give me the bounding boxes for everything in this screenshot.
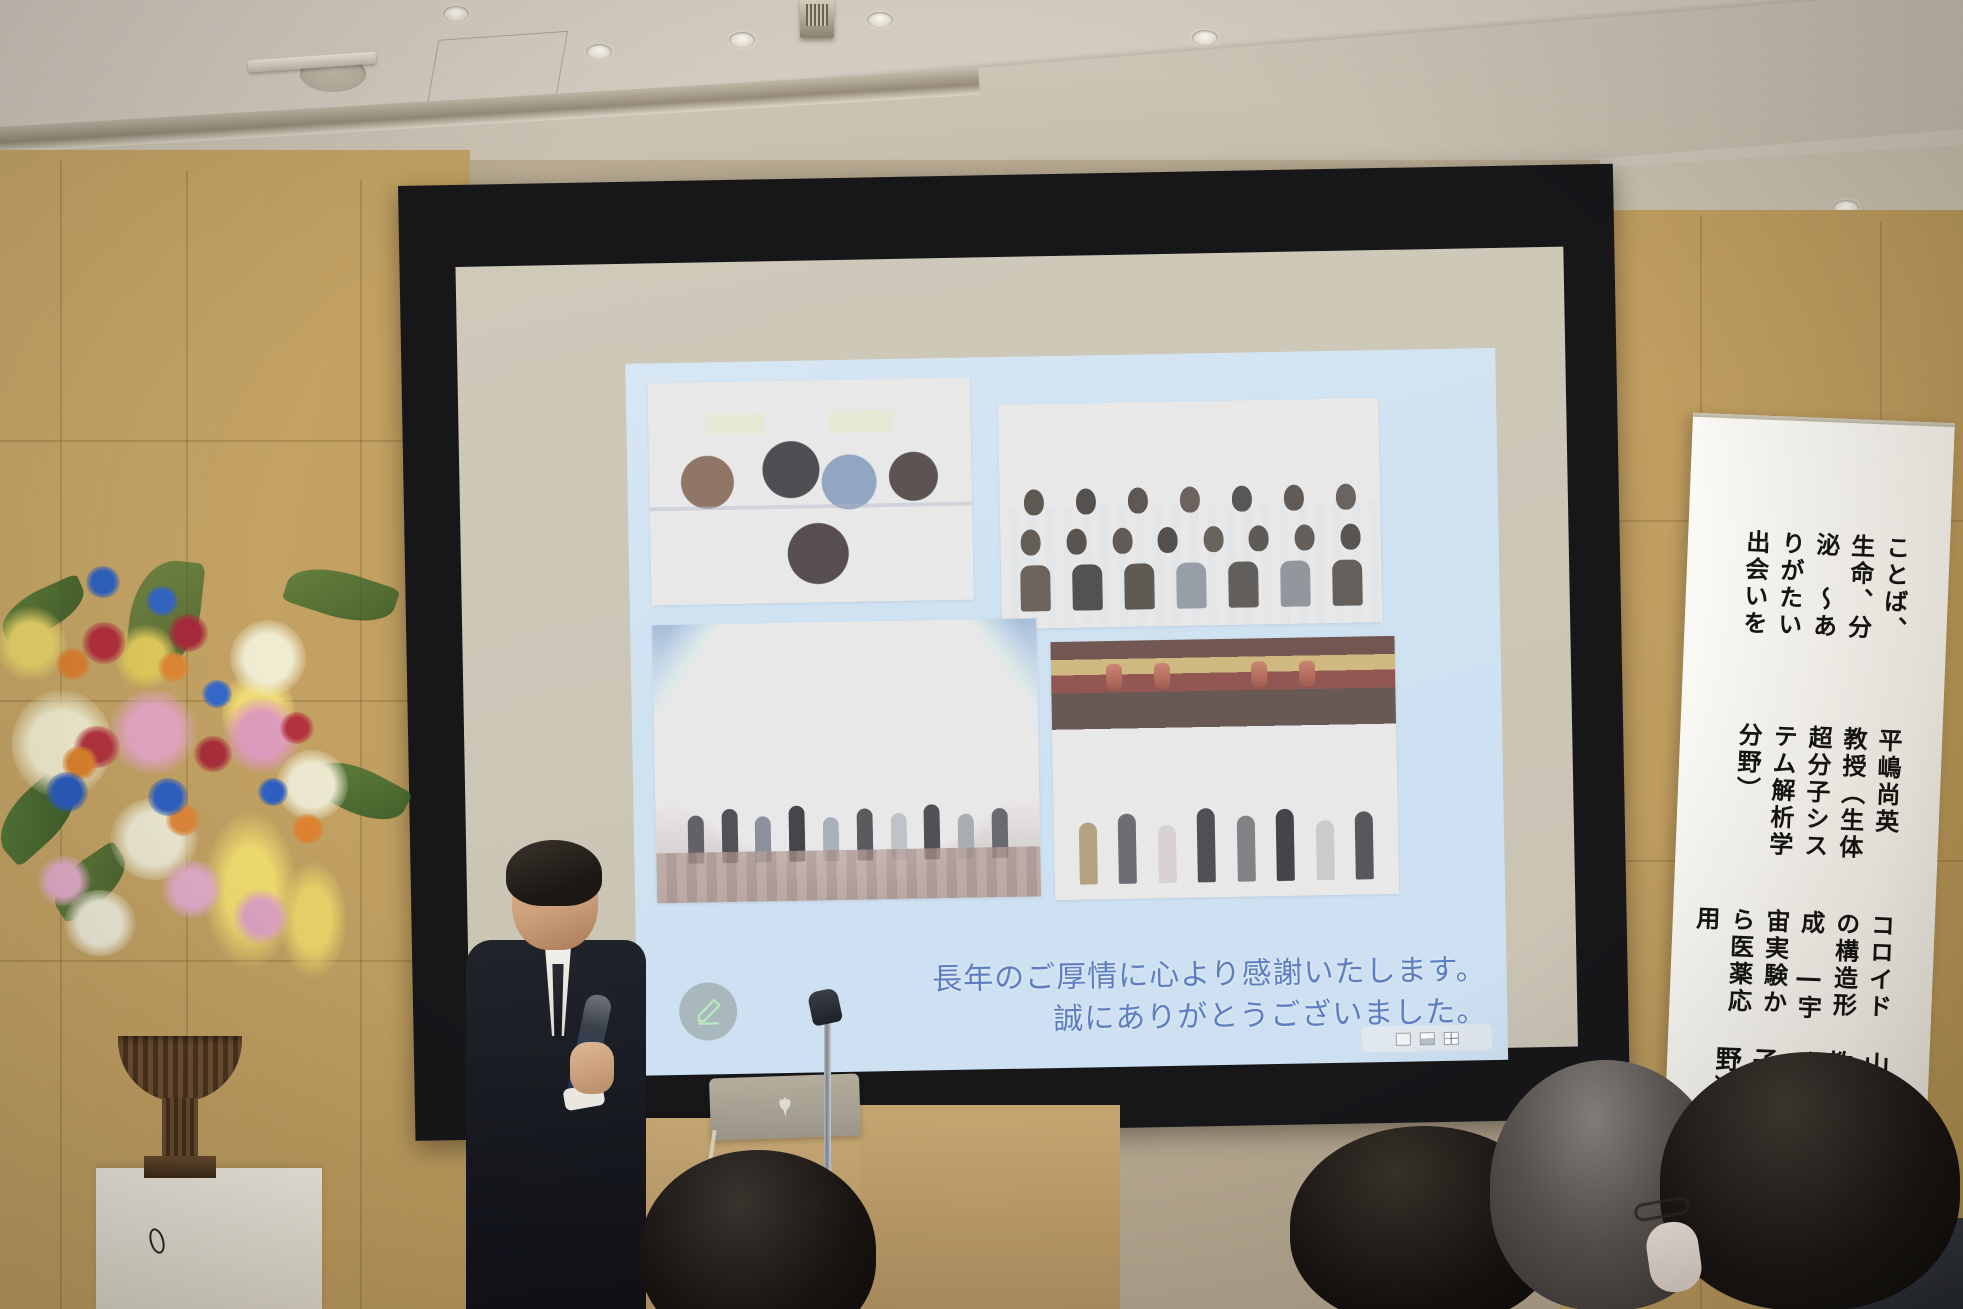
downlight-icon bbox=[586, 44, 612, 60]
presentation-hall-scene: 長年のご厚情に心より感謝いたします。 誠にありがとうございました。 最終講義 山… bbox=[0, 0, 1963, 1309]
presenter-hair bbox=[506, 840, 602, 906]
banner-line-speaker-2: 平嶋尚英 教授（生体超分子システム解析学分野） bbox=[1691, 720, 1907, 870]
banner-line-topic-2: ことば、生命、分泌 ～ありがたい出会いを bbox=[1700, 527, 1915, 659]
photo-cherry-blossom-group bbox=[652, 618, 1041, 903]
downlight-icon bbox=[1192, 30, 1218, 46]
presenter bbox=[466, 846, 646, 1309]
audience-head bbox=[1660, 1052, 1960, 1309]
banner-line-topic-1: コロイドの構造形成 ―宇宙実験から医薬応用 bbox=[1684, 905, 1899, 1044]
macbook-laptop[interactable] bbox=[709, 1073, 861, 1140]
presentation-slide: 長年のご厚情に心より感謝いたします。 誠にありがとうございました。 bbox=[625, 348, 1508, 1076]
photo-temple-festival-group bbox=[1050, 636, 1399, 900]
reading-view-icon[interactable] bbox=[1443, 1031, 1458, 1044]
presentation-view-toolbar[interactable] bbox=[1362, 1024, 1492, 1052]
downlight-icon bbox=[729, 32, 755, 48]
normal-view-icon[interactable] bbox=[1395, 1032, 1410, 1045]
photo-large-group-indoor bbox=[998, 398, 1382, 629]
presenter-hand bbox=[570, 1042, 614, 1094]
flower-pedestal bbox=[96, 1168, 322, 1309]
downlight-icon bbox=[867, 12, 893, 28]
podium-side-panel bbox=[860, 1105, 1120, 1309]
photo-laboratory-group bbox=[648, 378, 974, 606]
wall-seam bbox=[0, 440, 470, 442]
slide-sorter-view-icon[interactable] bbox=[1419, 1032, 1434, 1045]
downlight-icon bbox=[443, 6, 469, 22]
ceremonial-flower-arrangement bbox=[0, 560, 420, 1060]
ceiling-pendant-fixture bbox=[800, 0, 834, 38]
